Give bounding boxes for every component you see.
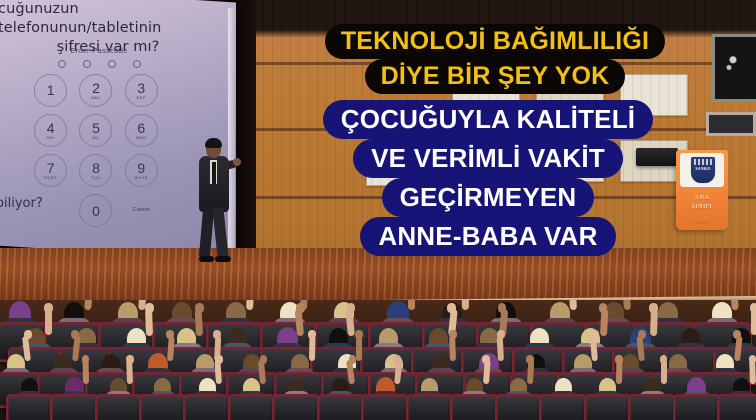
audience-raised-arm [356, 336, 362, 361]
audience-raised-arm [246, 300, 254, 310]
auditorium-seat [673, 394, 721, 420]
audience-hand [733, 330, 741, 339]
audience-hand [649, 303, 658, 313]
speaker-leg [199, 208, 214, 259]
screenshot-root: SANKO ANA SINIFI okullari cuğunuzun tele… [0, 0, 756, 420]
keypad-key-3: 3DEF [125, 74, 158, 107]
auditorium-seat [50, 394, 98, 420]
keypad-key-2: 2ABC [79, 74, 112, 107]
auditorium-seat [584, 394, 632, 420]
audience-hand [260, 355, 268, 364]
auditorium-seat [139, 394, 187, 420]
audience-hand [599, 303, 608, 313]
audience-raised-arm [45, 309, 52, 336]
audience-raised-arm [751, 309, 756, 336]
keypad-key-6: 6MNO [125, 114, 158, 147]
headline-banner: TEKNOLOJİ BAĞIMLILIĞI DİYE BİR ŞEY YOK [296, 24, 694, 94]
keypad-key-1: 1 [34, 74, 67, 107]
auditorium-seat [6, 394, 54, 420]
key-number: 3 [137, 81, 145, 95]
audience-hand [526, 355, 534, 364]
subheadline-line-4: ANNE-BABA VAR [360, 217, 615, 256]
wall-plaque-icon [706, 112, 756, 136]
auditorium-seat [361, 394, 409, 420]
slide-bottom-text: mler biliyor? [0, 196, 43, 211]
subheadline-line-3: GEÇİRMEYEN [382, 178, 595, 217]
passcode-dot [83, 60, 91, 68]
key-letters: JKL [92, 136, 100, 140]
speaker-legs [201, 208, 228, 262]
auditorium-seat [183, 394, 231, 420]
speaker-hand [233, 158, 241, 166]
auditorium-seat [450, 394, 498, 420]
audience-raised-arm [569, 300, 577, 310]
key-letters: MNO [136, 136, 146, 140]
audience-hand [296, 303, 305, 313]
audience-raised-arm [126, 360, 133, 384]
audience-hand [215, 355, 223, 364]
audience-raised-arm [82, 360, 88, 384]
audience-hand [355, 330, 363, 339]
keypad-cancel-button: Cancel [126, 194, 157, 225]
keypad-key-9: 9WXYZ [125, 154, 158, 187]
speaker-leg [212, 208, 228, 259]
subheadline-line-2: VE VERİMLİ VAKİT [353, 139, 623, 178]
audience-hand [393, 355, 401, 364]
key-letters: TUV [91, 176, 100, 180]
headline-line-2: DİYE BİR ŞEY YOK [365, 59, 626, 94]
enter-passcode-label: Enter Passcode [24, 46, 174, 55]
audience-raised-arm [749, 360, 756, 384]
audience-hand [497, 330, 505, 339]
key-number: 2 [92, 81, 100, 95]
audience-hand [195, 303, 204, 313]
speaker-hair [205, 138, 222, 148]
key-number: 6 [137, 121, 145, 135]
audience-hand [447, 303, 456, 313]
speaker-shoe [215, 256, 231, 262]
audience-hand [347, 303, 356, 313]
key-number: 0 [92, 204, 100, 218]
key-number: 1 [47, 83, 55, 97]
speaker-person [193, 140, 239, 262]
auditorium-seat [406, 394, 454, 420]
passcode-dots [24, 60, 174, 68]
framed-picture-icon [712, 34, 756, 102]
audience-hand [749, 355, 756, 364]
slide-question-line-1: cuğunuzun telefonunun/tabletinin [0, 0, 218, 38]
key-number: 8 [92, 161, 100, 175]
audience-hand [82, 355, 90, 364]
audience-raised-arm [600, 309, 608, 336]
auditorium-seat [539, 394, 587, 420]
keypad-key-7: 7PQRS [34, 154, 67, 187]
key-letters: DEF [137, 96, 146, 100]
audience-hand [126, 355, 134, 364]
audience-hand [44, 303, 53, 313]
key-letters: GHI [46, 136, 55, 140]
audience-raised-arm [309, 336, 316, 361]
audience-hand [750, 303, 756, 313]
audience-raised-arm [462, 300, 469, 310]
keypad-key-0: 0 [79, 194, 112, 227]
passcode-dot [58, 60, 66, 68]
keypad-key-5: 5JKL [79, 114, 112, 147]
audience-raised-arm [408, 300, 415, 310]
auditorium-seat [317, 394, 365, 420]
audience-hand [145, 303, 154, 313]
audience-hand [615, 355, 623, 364]
subheadline-line-1: ÇOCUĞUYLA KALİTELİ [323, 100, 653, 139]
audience-hand [482, 355, 490, 364]
key-number: 4 [47, 121, 55, 135]
subheadline-banner: ÇOCUĞUYLA KALİTELİ VE VERİMLİ VAKİT GEÇİ… [276, 100, 700, 256]
key-letters: ABC [91, 96, 101, 100]
audience-hand [308, 330, 316, 339]
audience-area [0, 300, 756, 420]
audience-raised-arm [650, 309, 658, 336]
passcode-keypad: 1 2ABC 3DEF 4GHI 5JKL 6MNO 7PQRS 8TUV 9W… [28, 74, 164, 227]
audience-hand [166, 330, 174, 339]
auditorium-seat [717, 394, 756, 420]
audience-raised-arm [616, 360, 622, 384]
keypad-key-4: 4GHI [34, 114, 67, 147]
audience-raised-arm [145, 309, 153, 336]
speaker-tie [212, 162, 216, 184]
audience-raised-arm [661, 360, 667, 384]
key-number: 7 [47, 161, 55, 175]
auditorium-seat [495, 394, 543, 420]
passcode-dot [108, 60, 116, 68]
keypad-key-8: 8TUV [79, 154, 112, 187]
passcode-dot [133, 60, 141, 68]
audience-hand [349, 355, 357, 364]
speaker-shoe [199, 256, 214, 262]
audience-hand [498, 303, 507, 313]
audience-raised-arm [84, 300, 94, 310]
audience-raised-arm [295, 309, 304, 336]
auditorium-seat [228, 394, 276, 420]
auditorium-seat [628, 394, 676, 420]
audience-raised-arm [496, 335, 504, 360]
audience-raised-arm [195, 309, 203, 336]
headline-line-1: TEKNOLOJİ BAĞIMLILIĞI [325, 24, 665, 59]
key-number: 5 [92, 121, 100, 135]
key-letters: PQRS [44, 176, 57, 180]
auditorium-seat [95, 394, 143, 420]
key-number: 9 [137, 161, 145, 175]
key-letters: WXYZ [135, 176, 148, 180]
auditorium-seat [272, 394, 320, 420]
